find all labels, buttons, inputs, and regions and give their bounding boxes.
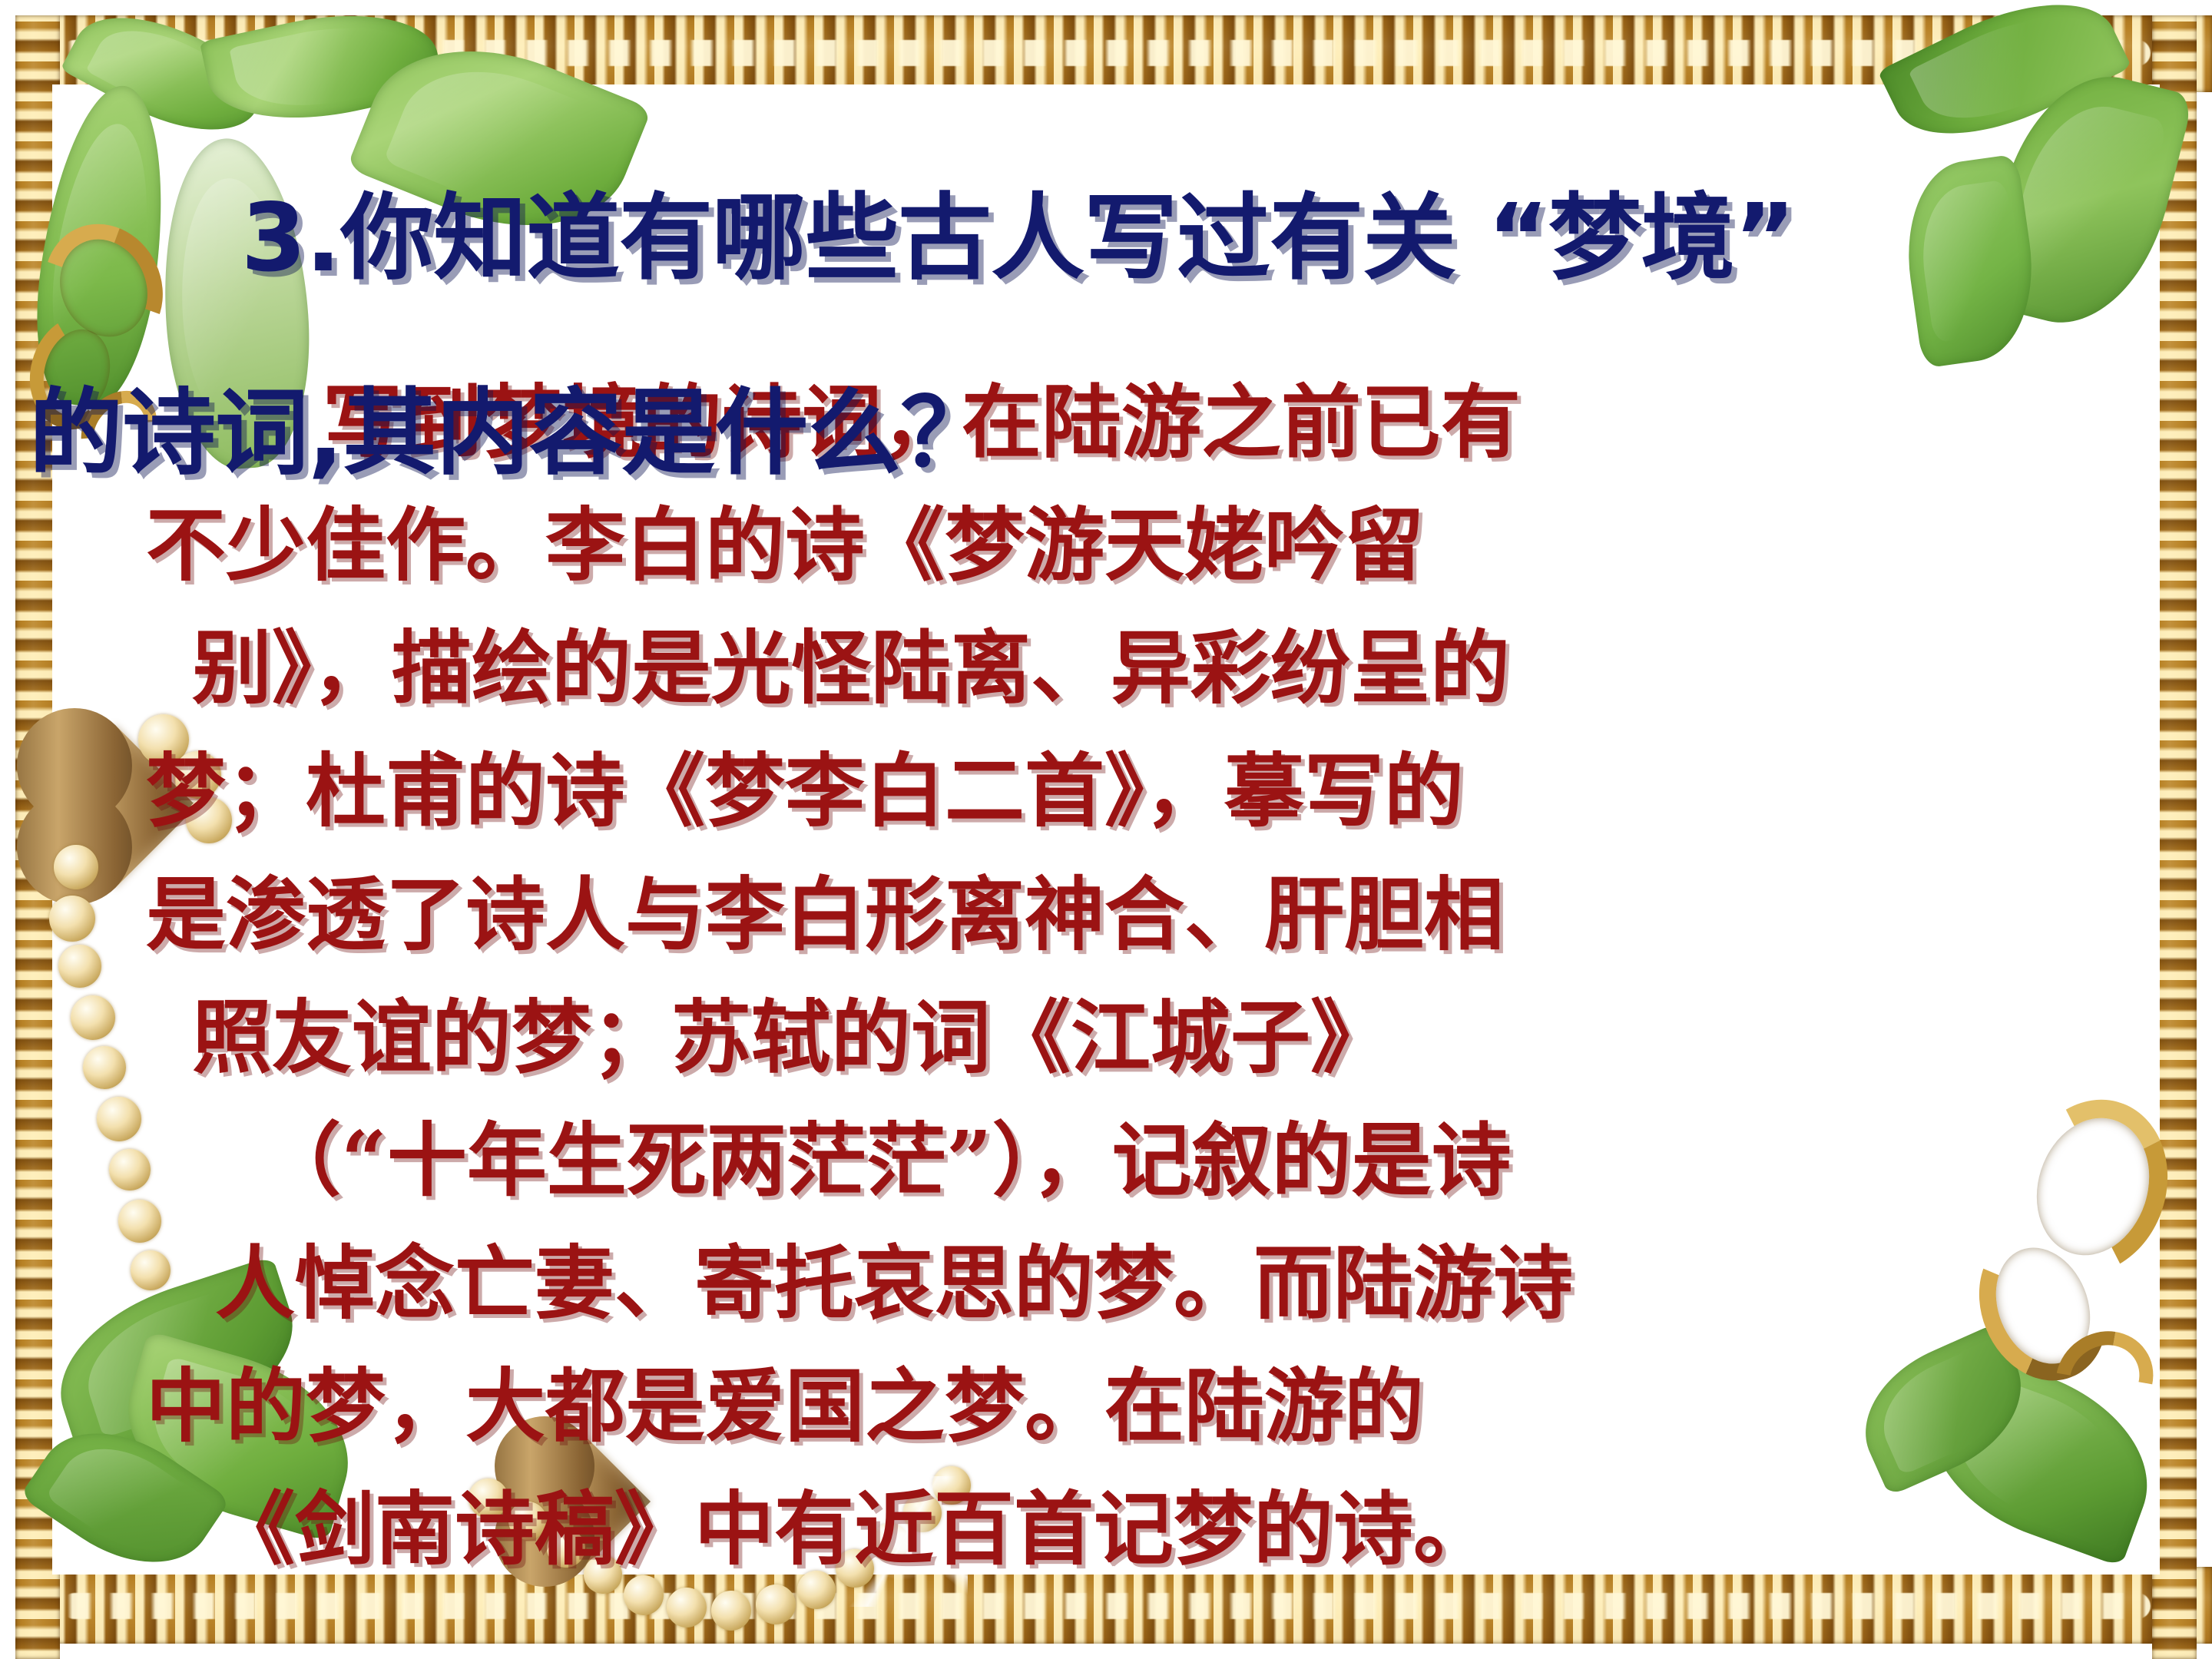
title-line-1: 3.你知道有哪些古人写过有关 “梦境” [241, 184, 1795, 293]
body-line: 人悼念亡妻、寄托哀思的梦。而陆游诗 [146, 1222, 2081, 1345]
body-line: 梦；杜甫的诗《梦李白二首》，摹写的 [146, 730, 2081, 853]
body-line: 是渗透了诗人与李白形离神合、肝胆相 [146, 853, 2081, 976]
frame-bead-row-bottom [61, 1593, 2151, 1619]
body-line: 中的梦，大都是爱国之梦。在陆游的 [146, 1345, 2081, 1468]
presentation-slide: 3.你知道有哪些古人写过有关 “梦境” 的诗词,其内容是什么？ 写到梦境的诗词，… [0, 0, 2212, 1659]
body-line: （“十年生死两茫茫”），记叙的是诗 [146, 1099, 2081, 1222]
body-line: 《剑南诗稿》中有近百首记梦的诗。 [146, 1468, 2081, 1591]
title-line-2: 的诗词,其内容是什么？ [29, 385, 2187, 482]
body-line: 照友谊的梦；苏轼的词《江城子》 [146, 976, 2081, 1099]
page-title: 3.你知道有哪些古人写过有关 “梦境” 的诗词,其内容是什么？ [114, 92, 2187, 677]
